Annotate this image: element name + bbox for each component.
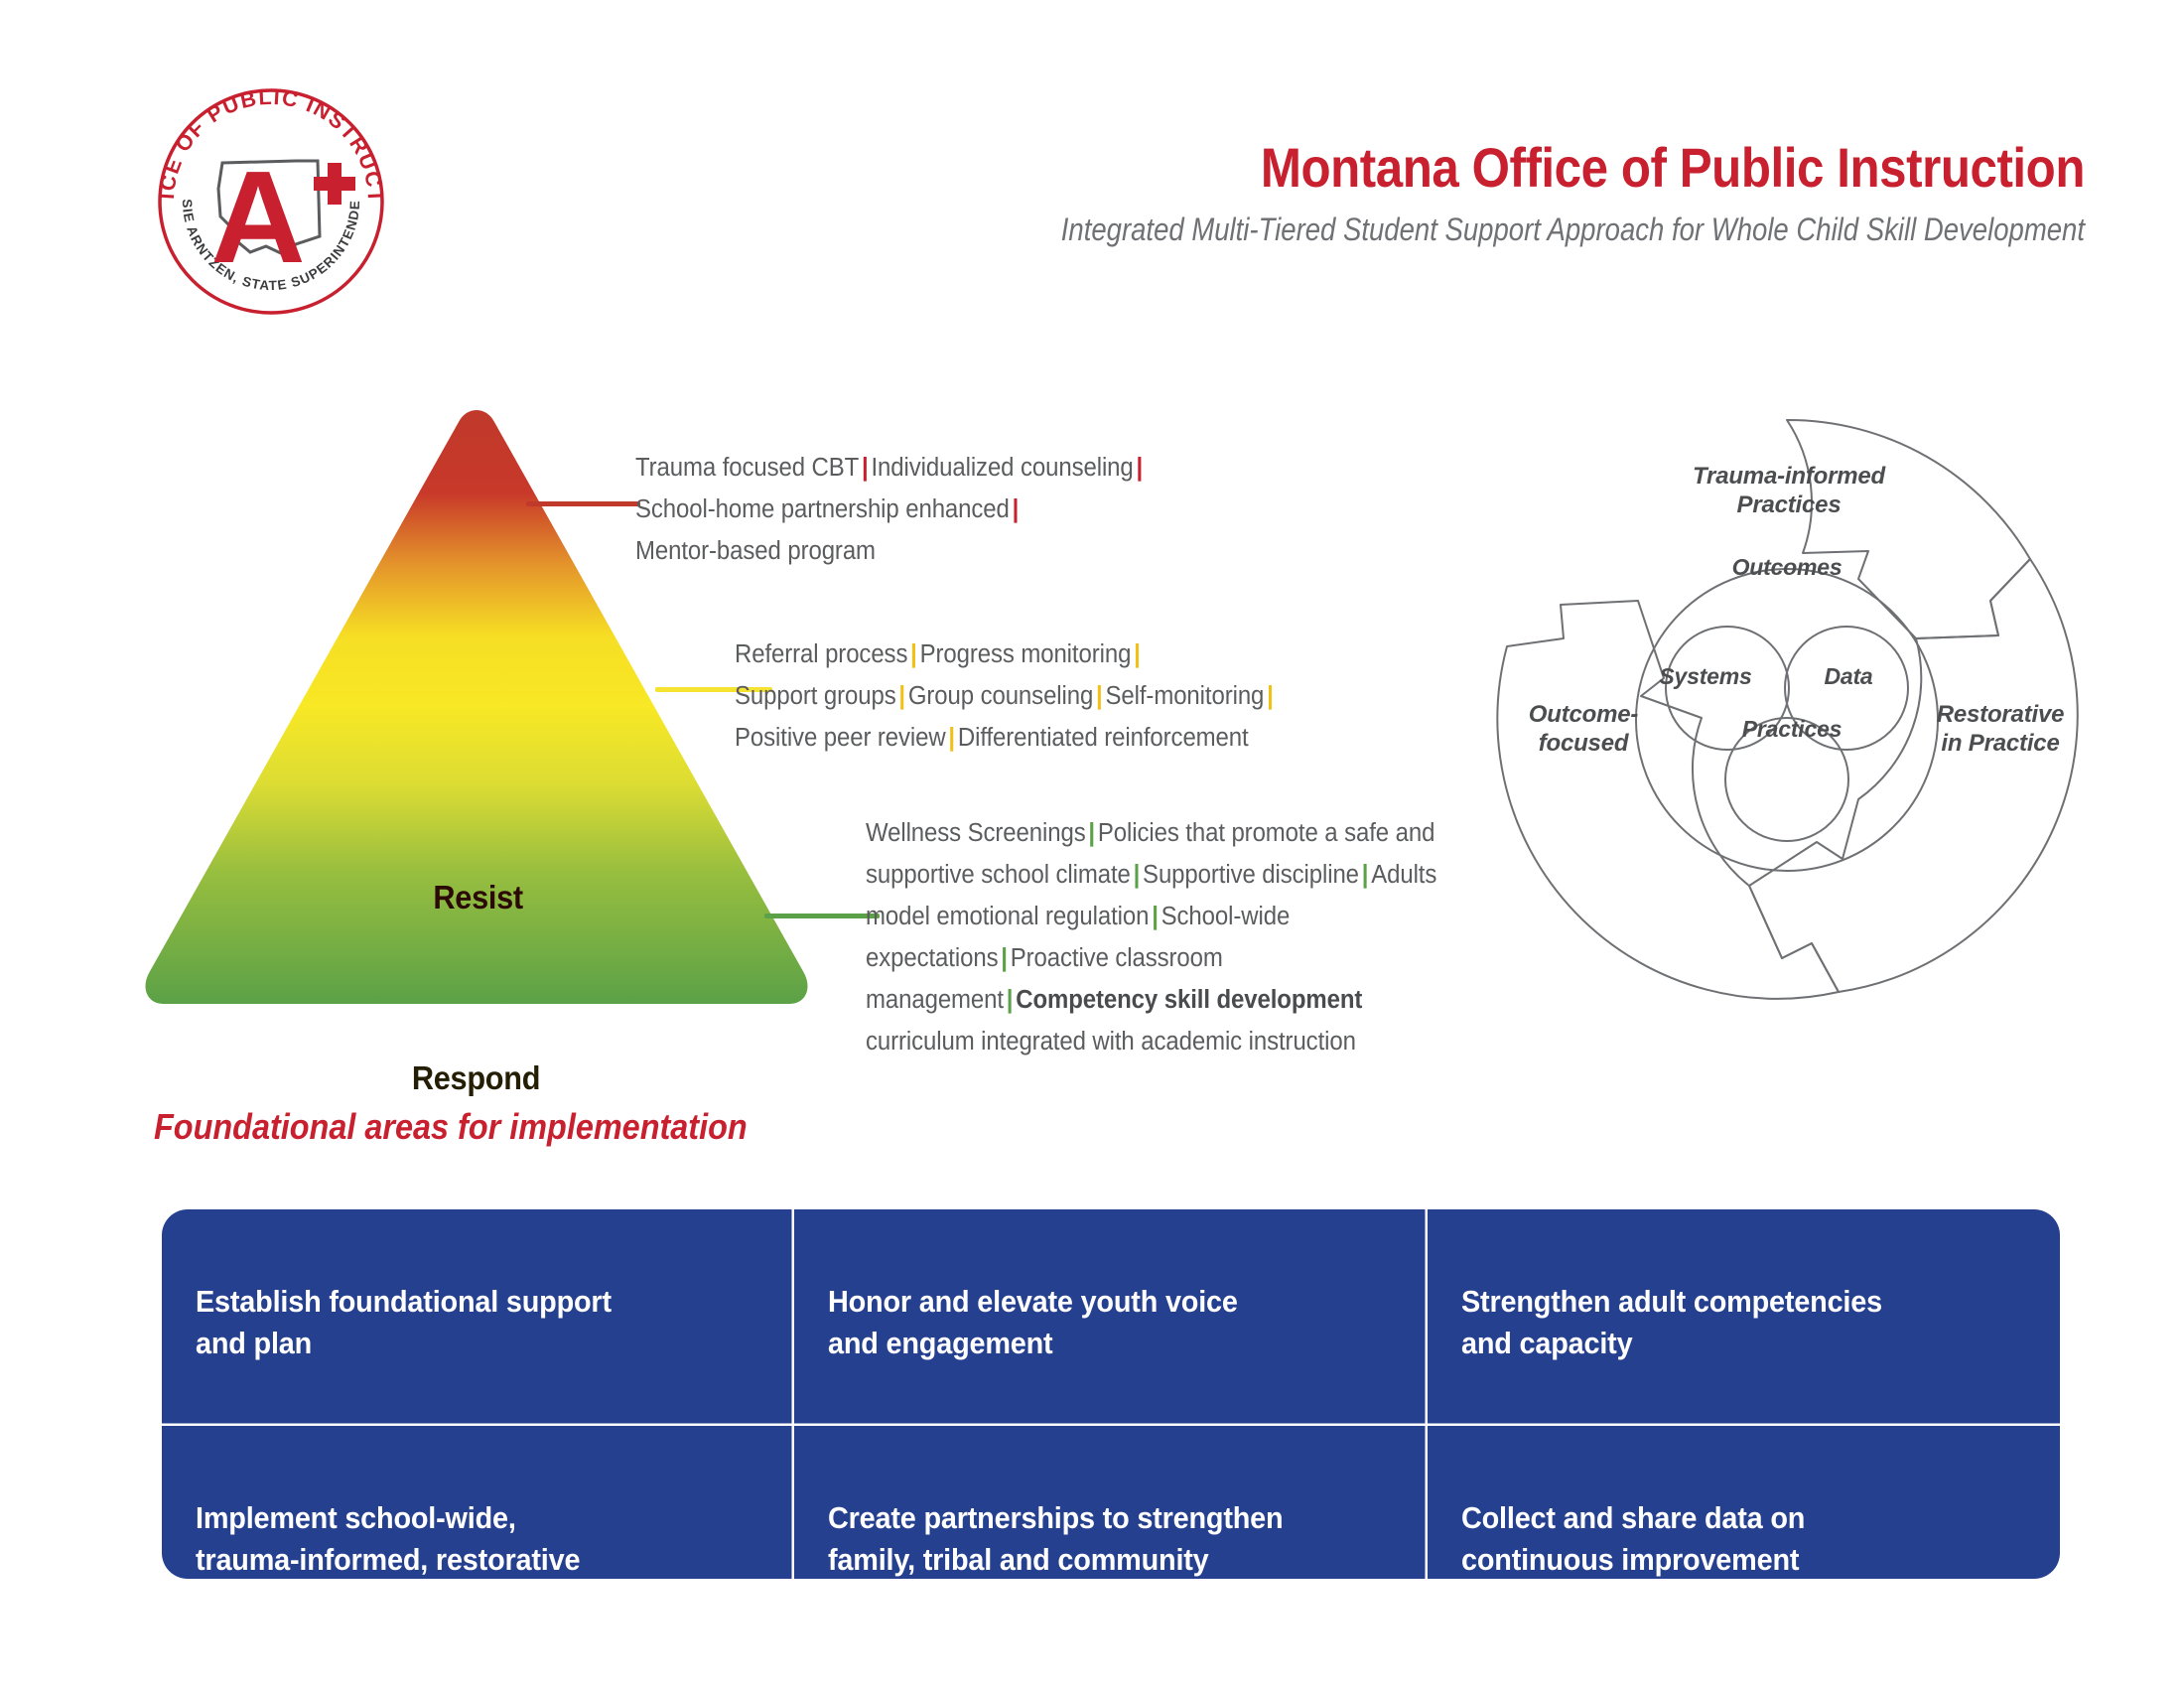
tier2-item-0: Referral process bbox=[735, 640, 907, 668]
tier2-item-1: Progress monitoring bbox=[920, 640, 1132, 668]
connector-line-resist bbox=[526, 501, 640, 506]
logo-a-mark: A bbox=[210, 144, 305, 290]
foundational-areas-grid: Establish foundational support and plan … bbox=[162, 1209, 2060, 1579]
tier-label-respond: Respond bbox=[412, 1059, 540, 1097]
tier3-item-1: Individualized counseling bbox=[871, 454, 1133, 482]
segment-outcome-focused bbox=[1497, 601, 1839, 999]
foundational-cell-6-text: Collect and share data on continuous imp… bbox=[1461, 1497, 1986, 1579]
foundational-cell-3: Strengthen adult competencies and capaci… bbox=[1428, 1209, 2060, 1426]
header-text-block: Montana Office of Public Instruction Int… bbox=[596, 139, 2085, 248]
tier1-bold-phrase: Competency skill development bbox=[1016, 986, 1362, 1014]
label-practices: Practices bbox=[1712, 715, 1871, 744]
tier1-item-2: Supportive discipline bbox=[1143, 861, 1359, 889]
tier1-item-6-tail: curriculum integrated with academic inst… bbox=[866, 1028, 1356, 1055]
tier1-item-0: Wellness Screenings bbox=[866, 819, 1086, 847]
foundational-cell-6: Collect and share data on continuous imp… bbox=[1428, 1426, 2060, 1579]
label-restorative-in-practice: Restorative in Practice bbox=[1916, 700, 2085, 758]
tier-label-resist: Resist bbox=[433, 879, 522, 916]
label-trauma-informed-practices: Trauma-informed Practices bbox=[1670, 462, 1908, 519]
segment-trauma-informed bbox=[1787, 420, 2030, 638]
label-systems: Systems bbox=[1636, 662, 1775, 691]
tier-items-respond: Referral process|Progress monitoring| Su… bbox=[735, 633, 1332, 759]
foundational-cell-1-text: Establish foundational support and plan bbox=[196, 1281, 721, 1364]
foundational-cell-4: Implement school-wide, trauma-informed, … bbox=[162, 1426, 794, 1579]
label-data: Data bbox=[1789, 662, 1908, 691]
tier3-item-2: School-home partnership enhanced bbox=[635, 495, 1010, 523]
infographic-page: OFFICE OF PUBLIC INSTRUCTION ELSIE ARNTZ… bbox=[0, 0, 2184, 1688]
tier-items-recognize: Wellness Screenings|Policies that promot… bbox=[866, 812, 1463, 1062]
tier3-item-3: Mentor-based program bbox=[635, 537, 876, 565]
tier2-item-5: Positive peer review bbox=[735, 724, 946, 752]
label-outcome-focused: Outcome- focused bbox=[1509, 700, 1658, 758]
page-subtitle: Integrated Multi-Tiered Student Support … bbox=[804, 211, 2085, 248]
segment-restorative bbox=[1749, 559, 2078, 992]
foundational-cell-2: Honor and elevate youth voice and engage… bbox=[794, 1209, 1427, 1426]
tier2-item-6: Differentiated reinforcement bbox=[958, 724, 1249, 752]
tier3-item-0: Trauma focused CBT bbox=[635, 454, 859, 482]
opi-seal-logo: OFFICE OF PUBLIC INSTRUCTION ELSIE ARNTZ… bbox=[147, 77, 395, 326]
foundational-cell-1: Establish foundational support and plan bbox=[162, 1209, 794, 1426]
foundational-cell-3-text: Strengthen adult competencies and capaci… bbox=[1461, 1281, 1986, 1364]
connector-line-recognize bbox=[764, 914, 880, 918]
foundational-cell-5-text: Create partnerships to strengthen family… bbox=[828, 1497, 1353, 1579]
foundational-cell-5: Create partnerships to strengthen family… bbox=[794, 1426, 1427, 1579]
tier2-item-2: Support groups bbox=[735, 682, 896, 710]
foundational-areas-heading: Foundational areas for implementation bbox=[154, 1106, 748, 1148]
tier2-item-4: Self-monitoring bbox=[1106, 682, 1265, 710]
foundational-cell-2-text: Honor and elevate youth voice and engage… bbox=[828, 1281, 1353, 1364]
page-title: Montana Office of Public Instruction bbox=[774, 139, 2085, 198]
label-outcomes: Outcomes bbox=[1678, 553, 1896, 582]
framework-pinwheel-diagram: Trauma-informed Practices Outcomes Syste… bbox=[1489, 402, 2085, 1008]
tier2-item-3: Group counseling bbox=[908, 682, 1093, 710]
foundational-cell-4-text: Implement school-wide, trauma-informed, … bbox=[196, 1497, 721, 1579]
tier-items-resist: Trauma focused CBT|Individualized counse… bbox=[635, 447, 1233, 572]
